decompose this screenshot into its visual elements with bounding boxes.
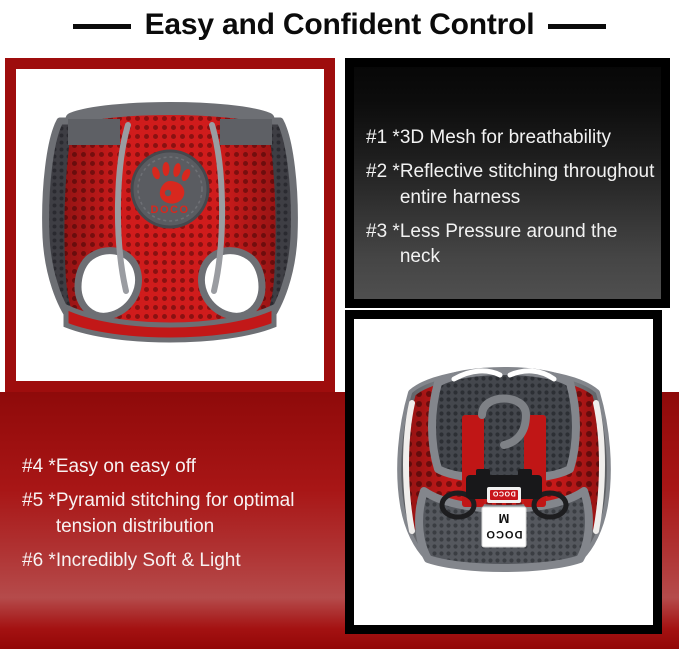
harness-leg-opening-left (78, 251, 139, 317)
harness-leg-opening-right (201, 251, 262, 317)
size-tag-size: M (499, 511, 510, 526)
feature-item: #3 * Less Pressure around the neck (366, 219, 655, 270)
feature-number: #1 * (366, 125, 400, 150)
harness-back-illustration: DOCO DOCO M (354, 319, 653, 625)
size-label-tag: DOCO M (482, 507, 526, 547)
features-panel-upper: #1 * 3D Mesh for breathability #2 * Refl… (345, 58, 670, 308)
feature-number: #6 * (22, 548, 56, 573)
product-image-back: DOCO DOCO M (354, 319, 653, 625)
feature-label: Easy on easy off (56, 454, 196, 479)
brand-badge-text: DOCO (151, 204, 190, 216)
feature-label: 3D Mesh for breathability (400, 125, 611, 150)
feature-label: Pyramid stitching for optimal tension di… (56, 488, 346, 539)
product-image-front-frame: DOCO (5, 58, 335, 392)
buckle-brand-text: DOCO (492, 490, 515, 497)
feature-number: #2 * (366, 159, 400, 184)
feature-number: #4 * (22, 454, 56, 479)
harness-strap-right (220, 119, 272, 145)
harness-front-illustration: DOCO (16, 69, 324, 381)
header-rule-left (73, 24, 131, 29)
feature-label: Reflective stitching throughout entire h… (400, 159, 655, 210)
size-tag-brand: DOCO (486, 528, 523, 540)
feature-number: #3 * (366, 219, 400, 244)
harness-strap-left (68, 119, 120, 145)
brand-badge-front: DOCO (132, 151, 208, 227)
feature-label: Incredibly Soft & Light (56, 548, 241, 573)
feature-label: Less Pressure around the neck (400, 219, 655, 270)
harness-inner-mesh (432, 371, 576, 480)
header-rule-right (548, 24, 606, 29)
product-image-front: DOCO (16, 69, 324, 381)
product-image-back-frame: DOCO DOCO M (345, 310, 662, 634)
feature-item: #2 * Reflective stitching throughout ent… (366, 159, 655, 210)
page-title: Easy and Confident Control (131, 10, 549, 40)
feature-number: #5 * (22, 488, 56, 513)
feature-item: #1 * 3D Mesh for breathability (366, 125, 655, 150)
page-header: Easy and Confident Control (0, 0, 679, 52)
